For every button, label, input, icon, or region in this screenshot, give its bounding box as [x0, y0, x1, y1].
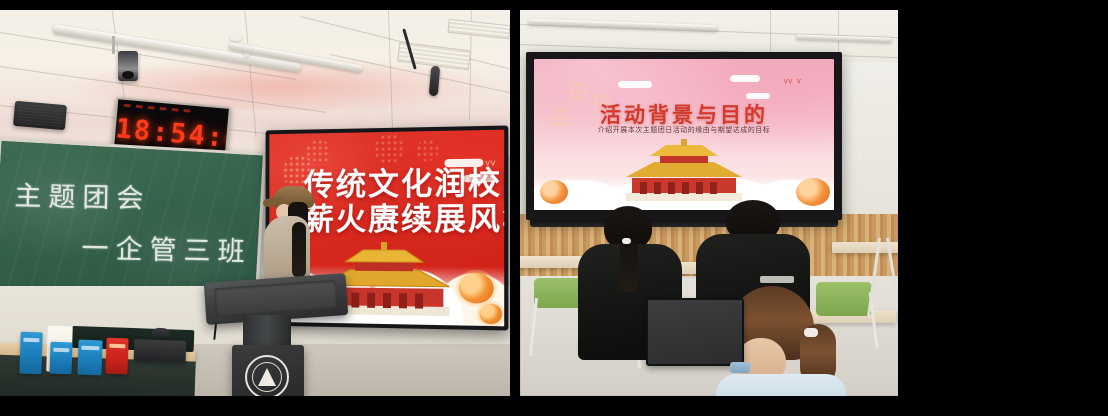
hair-tie [804, 328, 818, 337]
presentation-slide: ᵛᵛ ᵛ 活动背景与目的 介绍开展本次主题团日活动的缘由与期望达成的目标 [534, 59, 834, 210]
student-shoulders [716, 374, 846, 396]
right-photo-audience: ᵛᵛ ᵛ 活动背景与目的 介绍开展本次主题团日活动的缘由与期望达成的目标 [520, 10, 898, 396]
projection-screen: ᵛᵛ ᵛ 活动背景与目的 介绍开展本次主题团日活动的缘由与期望达成的目标 [526, 52, 842, 220]
school-emblem-inner [252, 362, 282, 392]
cloud-decoration-icon [730, 75, 760, 82]
amplifier-box [134, 339, 187, 363]
photo-collage-stage: 18:54:42 主题团会 一企管三班 ᵛᵛ ᵛ 传统文化润校园 [0, 0, 1108, 416]
hoodie-logo [760, 276, 794, 283]
peony-decoration-icon [459, 273, 494, 304]
led-banner-line1: 传统文化润校园 [304, 166, 509, 203]
cloud-decoration-icon [618, 81, 652, 88]
student-ponytail [620, 240, 638, 292]
bird-decoration-icon: ᵛᵛ ᵛ [784, 77, 802, 89]
led-banner-text: 传统文化润校园 薪火赓续展风华 [304, 166, 509, 238]
lectern-neck [243, 315, 291, 349]
peony-decoration-icon [540, 180, 568, 204]
hair-tie [622, 238, 631, 244]
projector [118, 51, 138, 81]
wall-speaker [13, 101, 67, 130]
firework-decoration-icon [306, 139, 331, 165]
flower-decoration-icon [568, 81, 588, 101]
computer-mouse [152, 328, 170, 340]
school-emblem-icon [245, 355, 289, 396]
tablet-device[interactable] [646, 298, 744, 366]
projector-mount [112, 36, 115, 54]
desk-item-blue-box [77, 340, 102, 376]
lectern-base [232, 345, 304, 396]
left-photo-classroom: 18:54:42 主题团会 一企管三班 ᵛᵛ ᵛ 传统文化润校园 [0, 10, 510, 396]
smoke-detector-icon [230, 34, 242, 41]
firework-decoration-icon [416, 139, 438, 162]
blackboard-text-line1: 主题团会 [14, 174, 151, 216]
forbidden-city-illustration [604, 134, 764, 206]
peony-decoration-icon [479, 303, 502, 324]
desk-item-red-box [105, 338, 128, 375]
lectern-touch-screen[interactable] [214, 280, 338, 316]
desk-item-blue-box [19, 332, 42, 375]
firework-decoration-icon [374, 134, 404, 165]
blackboard-text-line2: 一企管三班 [81, 226, 252, 269]
smartphone[interactable] [730, 362, 750, 373]
desk-item-blue-box [49, 342, 72, 375]
presenter-hair-strand [292, 222, 306, 278]
